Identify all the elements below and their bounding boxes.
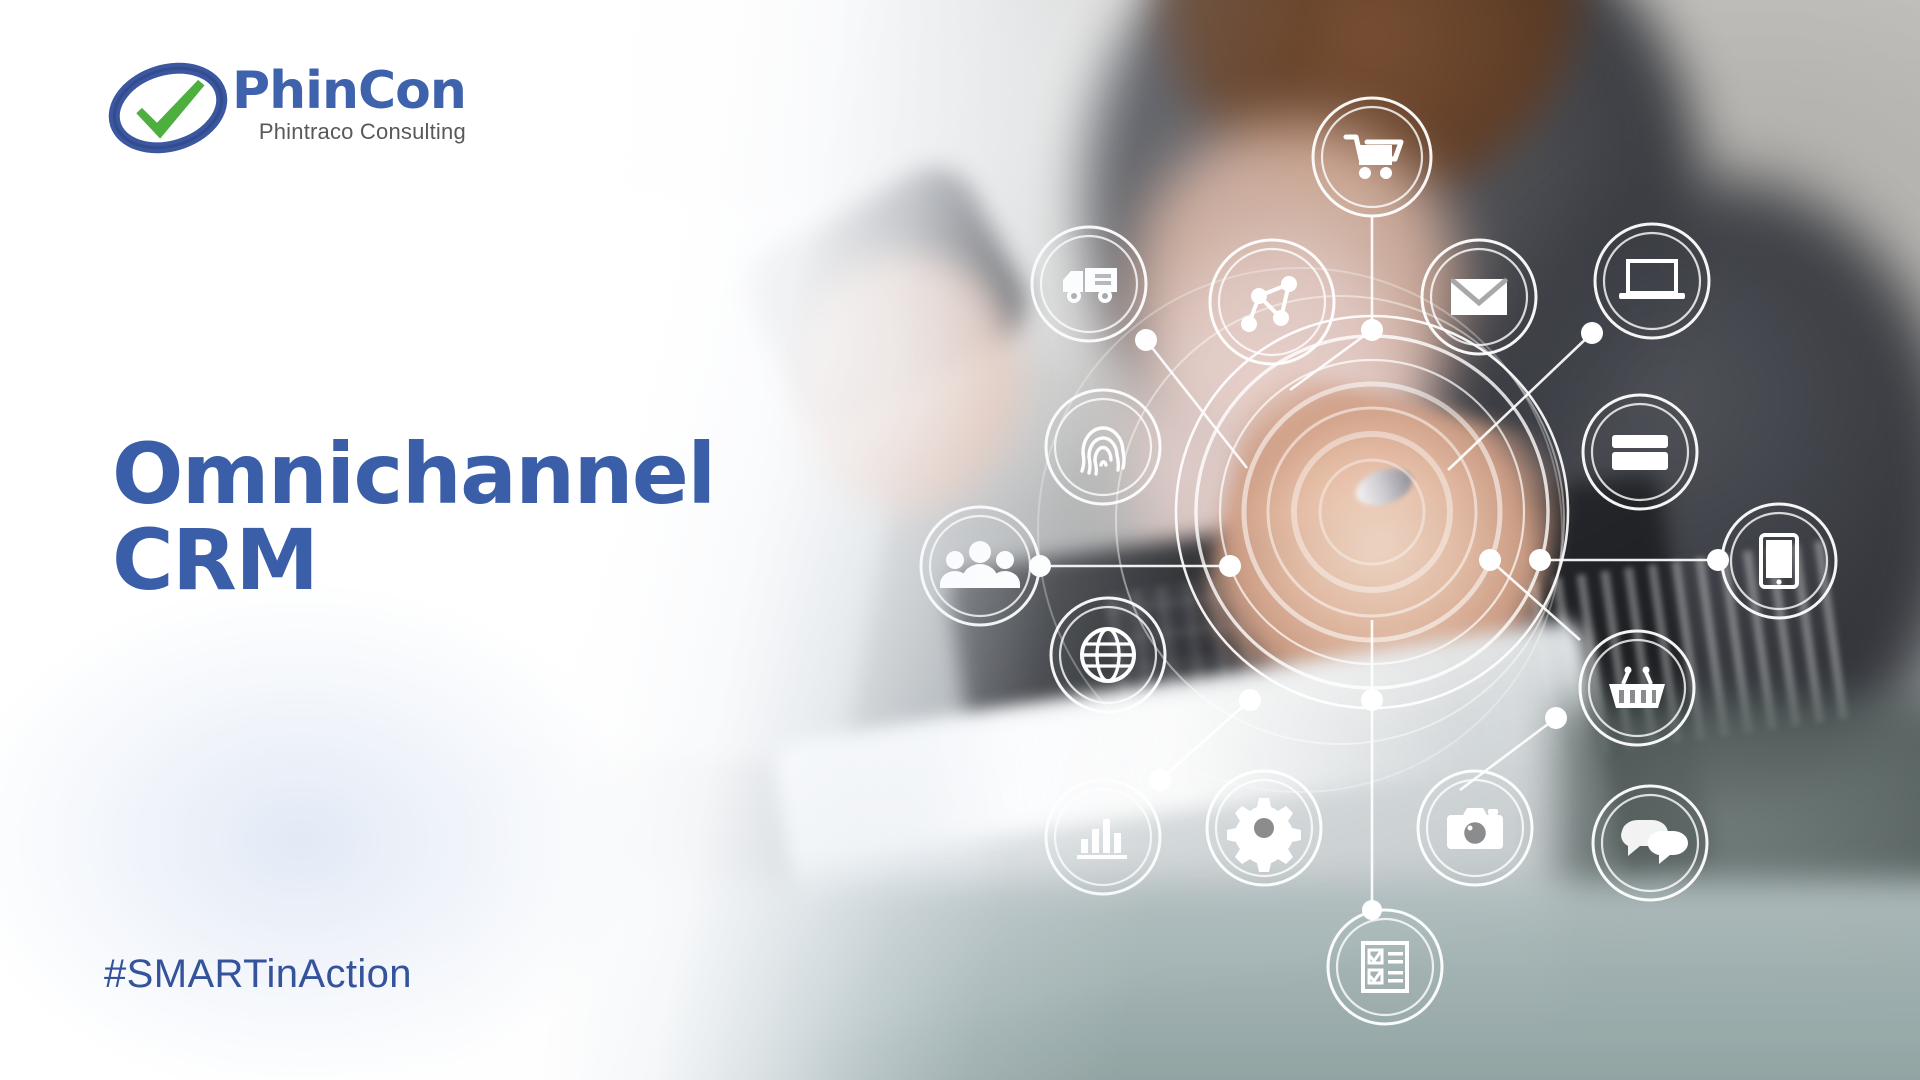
- logo-wordmark: PhinCon Phintraco Consulting: [232, 62, 466, 145]
- headline-line-2: CRM: [112, 518, 715, 604]
- campaign-hashtag: #SMARTinAction: [104, 952, 412, 997]
- left-content-panel: PhinCon Phintraco Consulting Omnichannel…: [0, 0, 760, 1080]
- green-check-in-blue-ellipse-icon: [108, 62, 228, 154]
- page-title: Omnichannel CRM: [112, 432, 715, 603]
- phincon-logo[interactable]: PhinCon Phintraco Consulting: [108, 62, 466, 154]
- headline-line-1: Omnichannel: [112, 432, 715, 518]
- logo-name: PhinCon: [232, 66, 466, 117]
- logo-tagline: Phintraco Consulting: [232, 119, 466, 145]
- marketing-banner: PhinCon Phintraco Consulting Omnichannel…: [0, 0, 1920, 1080]
